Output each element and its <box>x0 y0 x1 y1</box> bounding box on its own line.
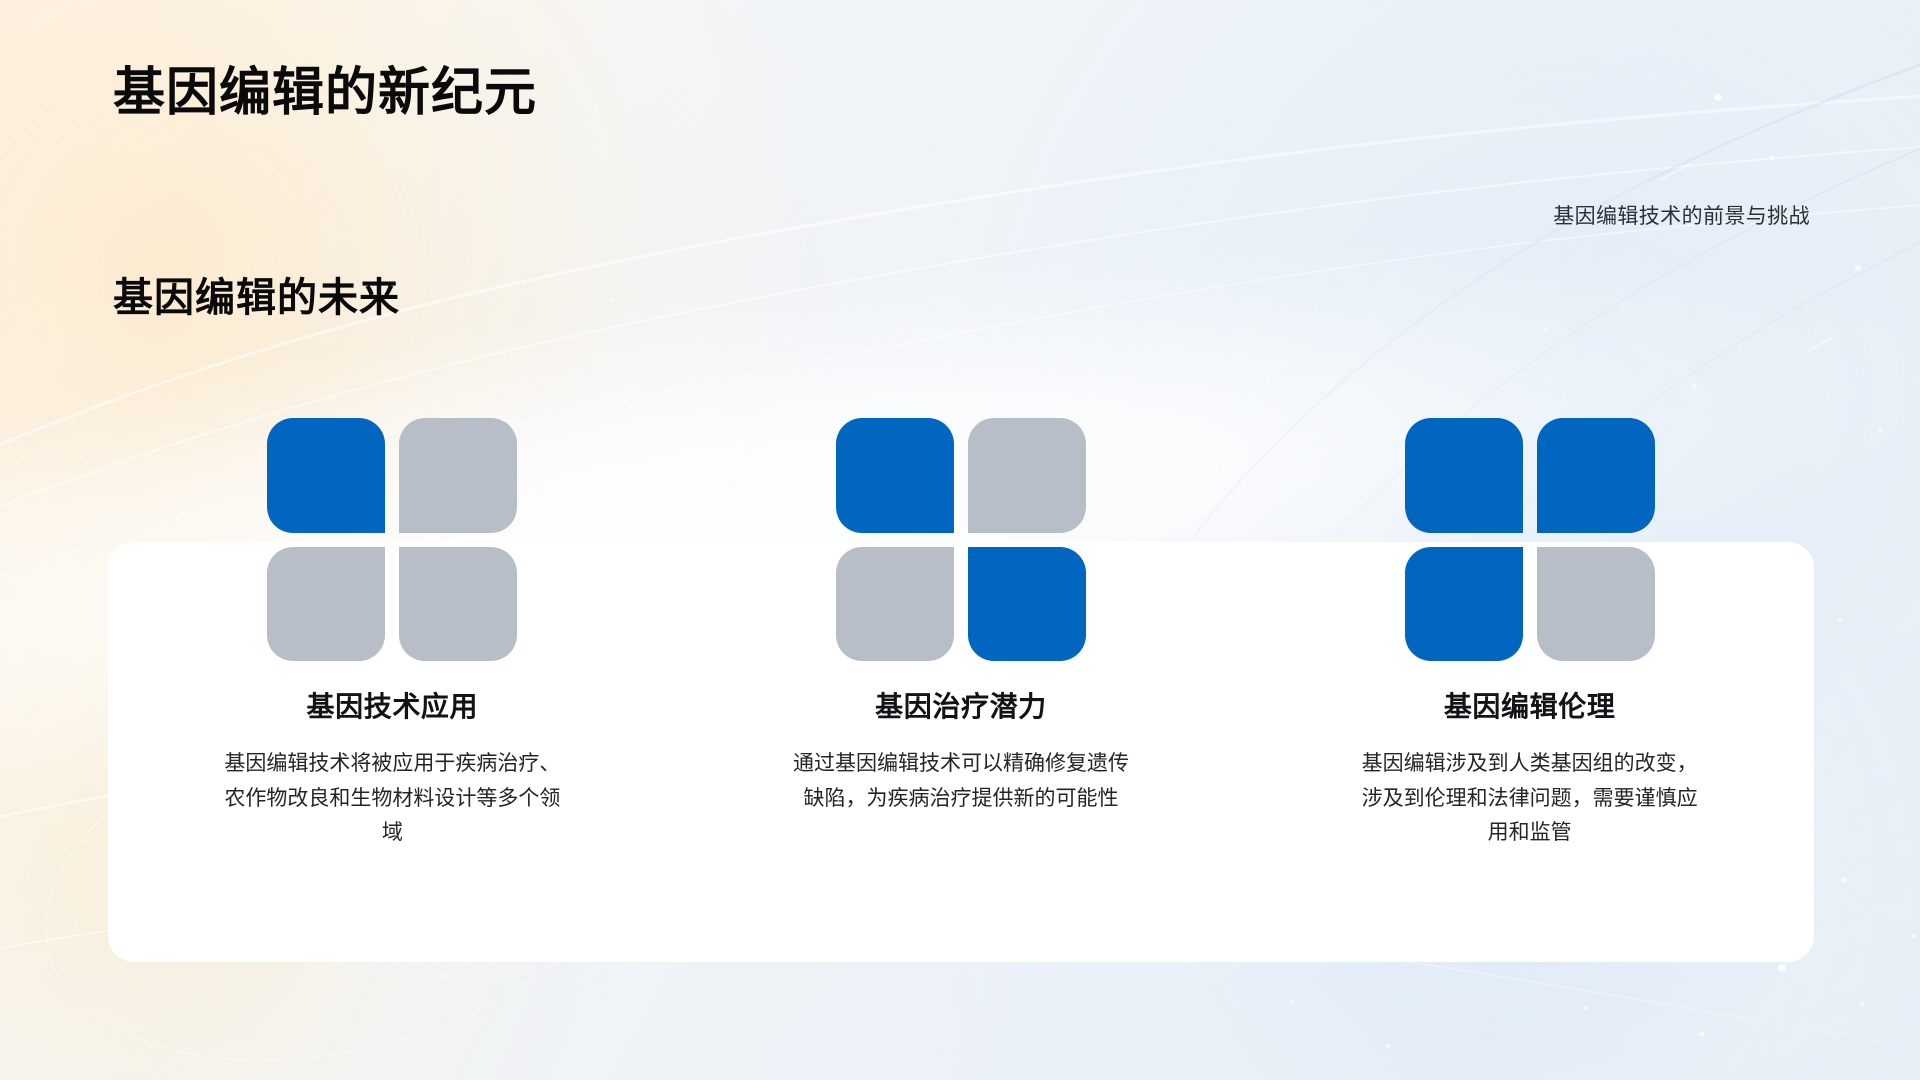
quad-grid-icon-three-blue <box>1405 418 1655 661</box>
feature-card-1[interactable]: 基因技术应用 基因编辑技术将被应用于疾病治疗、农作物改良和生物材料设计等多个领域 <box>177 418 607 851</box>
section-title: 基因编辑的未来 <box>113 265 400 323</box>
feature-title: 基因技术应用 <box>307 685 479 725</box>
page-title: 基因编辑的新纪元 <box>113 62 537 125</box>
quad-cell-top-left <box>836 418 954 533</box>
quad-cell-bottom-right <box>1537 547 1655 662</box>
quad-cell-bottom-left <box>267 547 385 662</box>
quad-cell-top-left <box>1405 418 1523 533</box>
quad-cell-bottom-left <box>836 547 954 662</box>
quad-grid-icon-diagonal-blue <box>836 418 1086 661</box>
feature-description: 基因编辑涉及到人类基因组的改变，涉及到伦理和法律问题，需要谨慎应用和监管 <box>1352 747 1708 851</box>
feature-description: 通过基因编辑技术可以精确修复遗传缺陷，为疾病治疗提供新的可能性 <box>783 747 1139 816</box>
quad-cell-top-right <box>399 418 517 533</box>
quad-cell-top-right <box>1537 418 1655 533</box>
quad-grid-icon-one-blue <box>267 418 517 661</box>
feature-card-3[interactable]: 基因编辑伦理 基因编辑涉及到人类基因组的改变，涉及到伦理和法律问题，需要谨慎应用… <box>1315 418 1745 851</box>
deck-subtitle: 基因编辑技术的前景与挑战 <box>1553 200 1810 230</box>
quad-cell-top-left <box>267 418 385 533</box>
feature-card-2[interactable]: 基因治疗潜力 通过基因编辑技术可以精确修复遗传缺陷，为疾病治疗提供新的可能性 <box>746 418 1176 816</box>
feature-columns: 基因技术应用 基因编辑技术将被应用于疾病治疗、农作物改良和生物材料设计等多个领域… <box>108 418 1814 898</box>
slide-canvas: 基因编辑的新纪元 基因编辑技术的前景与挑战 基因编辑的未来 基因技术应用 基因编… <box>0 0 1920 1080</box>
feature-title: 基因编辑伦理 <box>1444 685 1616 725</box>
quad-cell-top-right <box>968 418 1086 533</box>
feature-title: 基因治疗潜力 <box>875 685 1047 725</box>
quad-cell-bottom-left <box>1405 547 1523 662</box>
quad-cell-bottom-right <box>968 547 1086 662</box>
quad-cell-bottom-right <box>399 547 517 662</box>
feature-description: 基因编辑技术将被应用于疾病治疗、农作物改良和生物材料设计等多个领域 <box>214 747 570 851</box>
